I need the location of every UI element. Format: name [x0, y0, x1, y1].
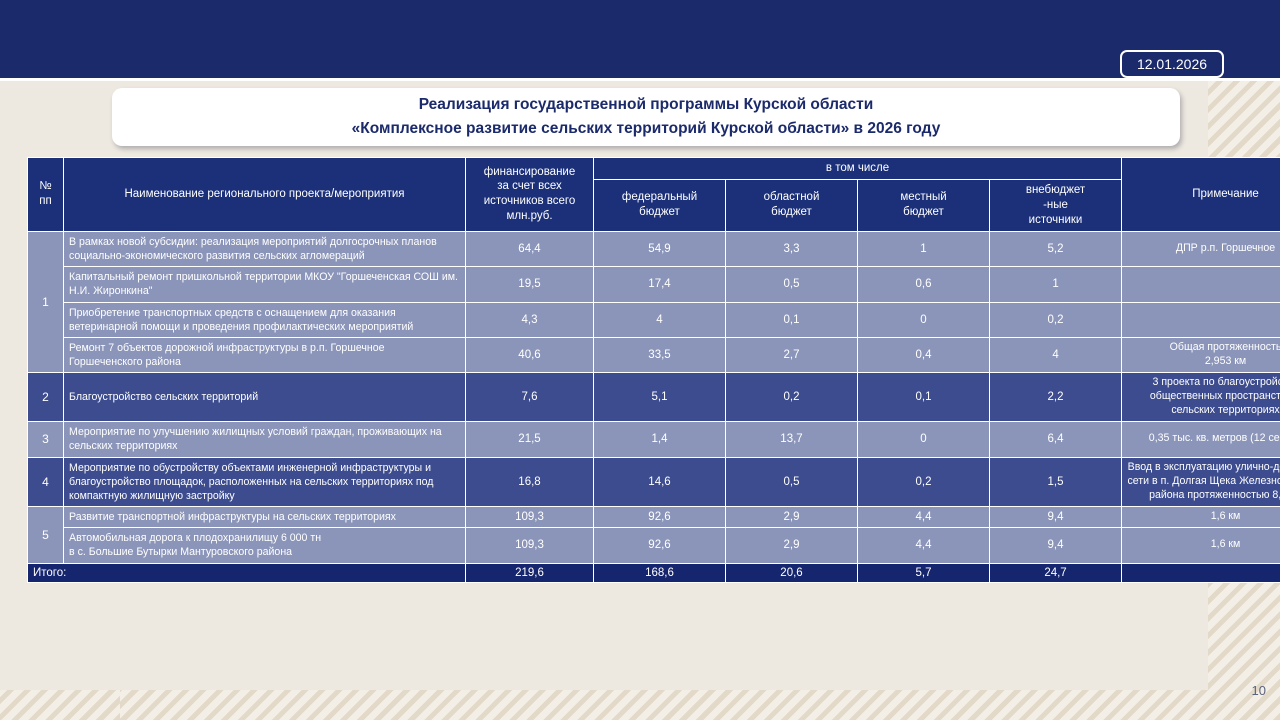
cell-total: 109,3	[466, 528, 594, 563]
cell-federal: 5,1	[594, 373, 726, 422]
cell-local: 4,4	[858, 507, 990, 528]
cell-extrabudget: 4	[990, 337, 1122, 372]
cell-federal: 4	[594, 302, 726, 337]
cell-extrabudget: 9,4	[990, 507, 1122, 528]
cell-note: 0,35 тыс. кв. метров (12 семей)	[1122, 422, 1280, 457]
cell-regional: 0,5	[726, 267, 858, 302]
cell-local: 0,6	[858, 267, 990, 302]
cell-total: 109,3	[466, 507, 594, 528]
table-row: 5Развитие транспортной инфраструктуры на…	[28, 507, 1280, 528]
cell-note: Ввод в эксплуатацию улично-дорожные сети…	[1122, 457, 1280, 507]
col-header-name: Наименование регионального проекта/мероп…	[64, 158, 466, 232]
cell-name: В рамках новой субсидии: реализация меро…	[64, 231, 466, 266]
cell-name: Ремонт 7 объектов дорожной инфраструктур…	[64, 337, 466, 372]
cell-federal: 1,4	[594, 422, 726, 457]
row-index: 4	[28, 457, 64, 507]
table-row: 1В рамках новой субсидии: реализация мер…	[28, 231, 1280, 266]
cell-note: Общая протяженность 2,953 км	[1122, 337, 1280, 372]
cell-extrabudget: 9,4	[990, 528, 1122, 563]
row-index: 3	[28, 422, 64, 457]
cell-note: 1,6 км	[1122, 528, 1280, 563]
cell-local: 0	[858, 302, 990, 337]
cell-extrabudget: 0,2	[990, 302, 1122, 337]
table-row: Автомобильная дорога к плодохранилищу 6 …	[28, 528, 1280, 563]
cell-extrabudget: 1,5	[990, 457, 1122, 507]
cell-total: 64,4	[466, 231, 594, 266]
table-row: 2Благоустройство сельских территорий7,65…	[28, 373, 1280, 422]
cell-local: 1	[858, 231, 990, 266]
cell-total: 19,5	[466, 267, 594, 302]
cell-note: ДПР р.п. Горшечное	[1122, 231, 1280, 266]
cell-federal: 14,6	[594, 457, 726, 507]
cell-federal: 54,9	[594, 231, 726, 266]
funding-table: № пп Наименование регионального проекта/…	[27, 157, 1280, 583]
decorative-stripes-bottom	[0, 686, 1280, 720]
header-bar	[0, 0, 1280, 78]
cell-total: 16,8	[466, 457, 594, 507]
table-total-row: Итого: 219,6 168,6 20,6 5,7 24,7	[28, 563, 1280, 582]
cell-local: 0,1	[858, 373, 990, 422]
cell-regional: 2,9	[726, 507, 858, 528]
slide-title-plate: Реализация государственной программы Кур…	[112, 88, 1180, 146]
total-federal: 168,6	[594, 563, 726, 582]
cell-name: Приобретение транспортных средств с осна…	[64, 302, 466, 337]
cell-name: Мероприятие по обустройству объектами ин…	[64, 457, 466, 507]
cell-extrabudget: 6,4	[990, 422, 1122, 457]
page-number: 10	[1252, 683, 1266, 698]
cell-federal: 17,4	[594, 267, 726, 302]
date-badge: 12.01.2026	[1120, 50, 1224, 78]
slide-title-line-1: Реализация государственной программы Кур…	[419, 93, 874, 117]
cell-federal: 92,6	[594, 507, 726, 528]
table-row: 3Мероприятие по улучшению жилищных услов…	[28, 422, 1280, 457]
row-index: 1	[28, 231, 64, 373]
table-row: Ремонт 7 объектов дорожной инфраструктур…	[28, 337, 1280, 372]
cell-name: Автомобильная дорога к плодохранилищу 6 …	[64, 528, 466, 563]
cell-total: 4,3	[466, 302, 594, 337]
cell-total: 21,5	[466, 422, 594, 457]
total-label: Итого:	[28, 563, 466, 582]
cell-total: 7,6	[466, 373, 594, 422]
total-note	[1122, 563, 1280, 582]
cell-extrabudget: 2,2	[990, 373, 1122, 422]
cell-regional: 0,1	[726, 302, 858, 337]
col-header-group: в том числе	[594, 158, 1122, 180]
cell-federal: 92,6	[594, 528, 726, 563]
cell-name: Мероприятие по улучшению жилищных услови…	[64, 422, 466, 457]
col-header-note: Примечание	[1122, 158, 1280, 232]
cell-regional: 0,2	[726, 373, 858, 422]
slide-title-line-2: «Комплексное развитие сельских территори…	[352, 117, 941, 141]
total-extrabudget: 24,7	[990, 563, 1122, 582]
cell-regional: 2,7	[726, 337, 858, 372]
row-index: 5	[28, 507, 64, 564]
cell-local: 0	[858, 422, 990, 457]
cell-extrabudget: 1	[990, 267, 1122, 302]
cell-regional: 13,7	[726, 422, 858, 457]
cell-name: Капитальный ремонт пришкольной территори…	[64, 267, 466, 302]
cell-local: 0,4	[858, 337, 990, 372]
cell-note	[1122, 302, 1280, 337]
total-regional: 20,6	[726, 563, 858, 582]
col-header-federal: федеральный бюджет	[594, 179, 726, 231]
cell-regional: 3,3	[726, 231, 858, 266]
cell-total: 40,6	[466, 337, 594, 372]
cell-federal: 33,5	[594, 337, 726, 372]
table-footer: Итого: 219,6 168,6 20,6 5,7 24,7	[28, 563, 1280, 582]
cell-extrabudget: 5,2	[990, 231, 1122, 266]
col-header-total: финансирование за счет всех источников в…	[466, 158, 594, 232]
table-header-row-1: № пп Наименование регионального проекта/…	[28, 158, 1280, 180]
col-header-extrabudget: внебюджет -ные источники	[990, 179, 1122, 231]
cell-name: Развитие транспортной инфраструктуры на …	[64, 507, 466, 528]
cell-local: 0,2	[858, 457, 990, 507]
row-index: 2	[28, 373, 64, 422]
cell-note: 3 проекта по благоустройству общественны…	[1122, 373, 1280, 422]
table-body: 1В рамках новой субсидии: реализация мер…	[28, 231, 1280, 563]
col-header-regional: областной бюджет	[726, 179, 858, 231]
cell-name: Благоустройство сельских территорий	[64, 373, 466, 422]
cell-regional: 0,5	[726, 457, 858, 507]
cell-note: 1,6 км	[1122, 507, 1280, 528]
total-all: 219,6	[466, 563, 594, 582]
table-header: № пп Наименование регионального проекта/…	[28, 158, 1280, 232]
table-row: Приобретение транспортных средств с осна…	[28, 302, 1280, 337]
cell-local: 4,4	[858, 528, 990, 563]
header-divider	[0, 78, 1280, 81]
table-row: Капитальный ремонт пришкольной территори…	[28, 267, 1280, 302]
total-local: 5,7	[858, 563, 990, 582]
cell-regional: 2,9	[726, 528, 858, 563]
col-header-local: местный бюджет	[858, 179, 990, 231]
table-row: 4Мероприятие по обустройству объектами и…	[28, 457, 1280, 507]
col-header-index: № пп	[28, 158, 64, 232]
cell-note	[1122, 267, 1280, 302]
